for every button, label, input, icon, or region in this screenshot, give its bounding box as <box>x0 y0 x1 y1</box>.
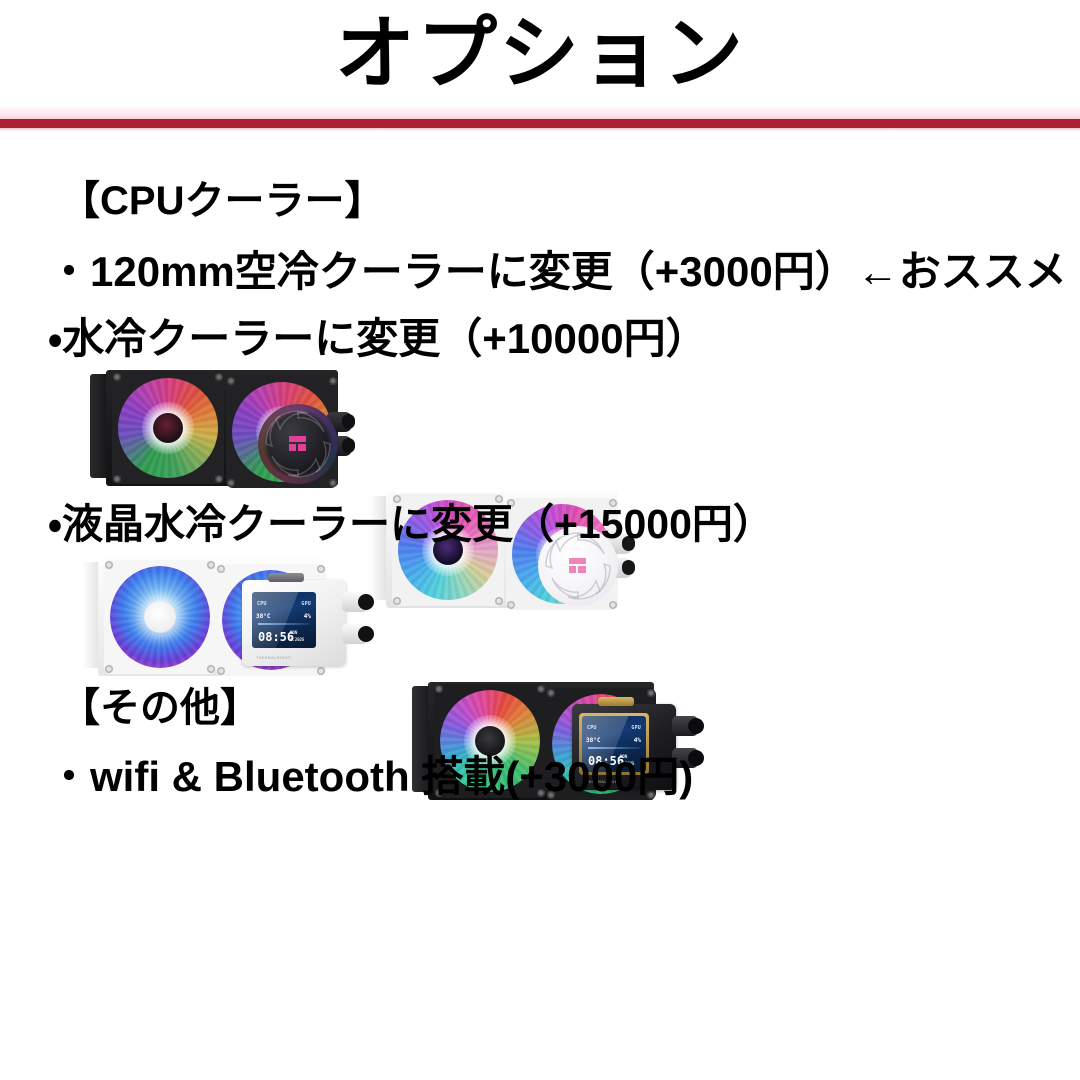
title-underline-glow <box>0 104 1080 120</box>
screw-bl-1 <box>113 475 121 483</box>
lcd-date-line2-white: 4.2025 <box>290 637 304 643</box>
product-row-lcd-coolers: CPU GPU 38°C 4% 08:56 MON 4.2025 THERMAL… <box>0 556 1080 680</box>
pump-top-bracket-white <box>268 573 304 582</box>
lcd-gpu-value-white: 4% <box>304 613 311 620</box>
coolant-tube-upper <box>342 414 355 429</box>
bullet-air-cooler-option: ・120mm空冷クーラーに変更（+3000円）←おススメ <box>48 248 1067 296</box>
bullet-wifi-bluetooth-option: ・wifi & Bluetooth 搭載(+3000円) <box>48 753 693 801</box>
tube-connector-lower-white <box>358 626 374 642</box>
screw-tl-lcdwhite-2 <box>217 565 225 573</box>
fan-disc-lcdwhite-1 <box>110 566 210 668</box>
coolant-tube-lower <box>342 438 355 453</box>
screw-br-lcdwhite-1 <box>207 665 215 673</box>
tube-connector-upper-black <box>688 718 704 734</box>
slide-content: 【CPUクーラー】 ・120mm空冷クーラーに変更（+3000円）←おススメ ・… <box>0 128 1080 1080</box>
screw-br-lcdwhite-2 <box>317 667 325 675</box>
screw-tl-2 <box>227 377 235 385</box>
lcd-date-line1-white: MON <box>290 630 297 636</box>
lcd-gpu-value-black: 4% <box>634 737 641 744</box>
fan-hub-1 <box>153 413 183 443</box>
page-title: オプション <box>0 2 1080 106</box>
screw-tl-lcdwhite-1 <box>105 561 113 569</box>
title-underline <box>0 119 1080 128</box>
pump-top-bracket-black <box>598 697 634 706</box>
pump-head-black <box>258 404 338 484</box>
slide-header: オプション <box>0 0 1080 128</box>
bullet-lcd-cooler-option: ・液晶水冷クーラーに変更（+15000円） <box>48 500 774 548</box>
fan-hub-lcdwhite-1 <box>144 601 176 633</box>
screw-bl-lcdwhite-2 <box>217 667 225 675</box>
screw-tr-1 <box>215 373 223 381</box>
section-heading-other: 【その他】 <box>60 685 260 731</box>
screw-tr-lcdblack-1 <box>537 685 545 693</box>
product-image-black-aio-cooler <box>90 368 355 490</box>
screw-tl-lcdblack-2 <box>547 689 555 697</box>
fan-frame-1 <box>112 372 224 484</box>
fan-disc-1 <box>118 378 218 478</box>
fan-frame-lcdwhite-1 <box>104 560 216 674</box>
screw-tr-lcdblack-2 <box>647 689 655 697</box>
brand-text-white-lcd: THERMALRIGHT <box>256 655 291 660</box>
screw-tr-2 <box>329 377 337 385</box>
screw-tr-lcdwhite-2 <box>317 565 325 573</box>
fan-hub-lcdblack-1 <box>475 726 505 756</box>
tube-connector-upper-white <box>358 594 374 610</box>
screw-tl-lcdblack-1 <box>435 685 443 693</box>
screw-br-1 <box>215 475 223 483</box>
screw-bl-lcdwhite-1 <box>105 665 113 673</box>
screw-tl-1 <box>113 373 121 381</box>
lcd-gpu-label-white: GPU <box>301 601 311 607</box>
thermalright-logo-icon <box>289 436 307 452</box>
lcd-display-white: CPU GPU 38°C 4% 08:56 MON 4.2025 <box>252 592 316 648</box>
product-image-white-lcd-cooler: CPU GPU 38°C 4% 08:56 MON 4.2025 THERMAL… <box>82 556 350 680</box>
pump-block-white-lcd: CPU GPU 38°C 4% 08:56 MON 4.2025 THERMAL… <box>242 580 346 666</box>
product-row-aio-coolers <box>0 368 1080 490</box>
lcd-gpu-label-black: GPU <box>631 725 641 731</box>
section-heading-cpu-cooler: 【CPUクーラー】 <box>60 178 384 224</box>
bullet-liquid-cooler-option: ・水冷クーラーに変更（+10000円） <box>48 315 708 363</box>
screw-bl-2 <box>227 479 235 487</box>
screw-tr-lcdwhite-1 <box>207 561 215 569</box>
